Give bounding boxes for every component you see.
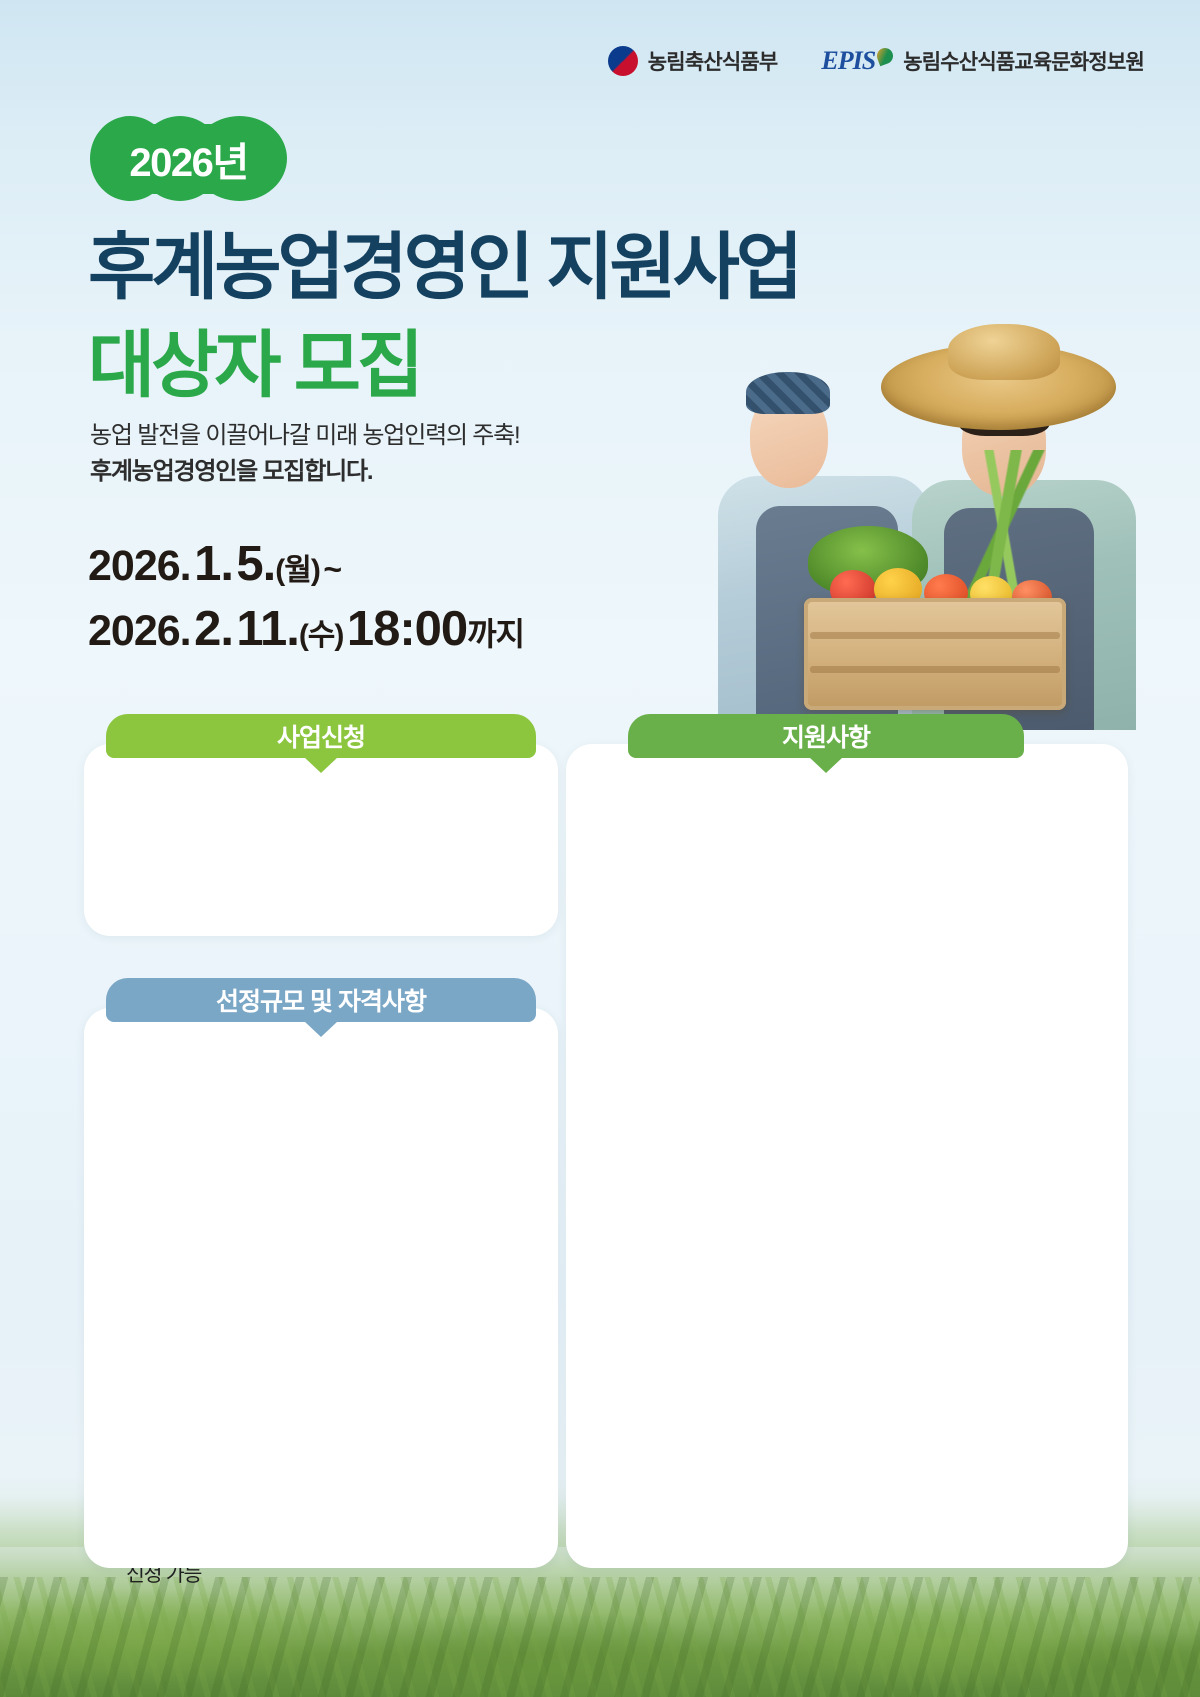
epis-logo-unit: EPIS 농림수산식품교육문화정보원	[821, 46, 1144, 76]
poster-subtitle: 농업 발전을 이끌어나갈 미래 농업인력의 주축! 후계농업경영인을 모집합니다…	[90, 418, 520, 490]
date-end-time: 18:00	[347, 602, 467, 656]
date-end-year: 2026.	[88, 607, 191, 655]
support-card	[566, 744, 1128, 1568]
epis-name: 농림수산식품교육문화정보원	[903, 46, 1144, 76]
header-logos: 농림축산식품부 EPIS 농림수산식품교육문화정보원	[608, 46, 1144, 76]
poster-title-line1: 후계농업경영인 지원사업	[88, 208, 799, 314]
woman-bandana	[746, 372, 830, 414]
date-end-weekday: (수)	[299, 619, 344, 652]
ministry-name: 농림축산식품부	[648, 46, 778, 76]
date-end-suffix: 까지	[467, 616, 524, 652]
date-start-weekday: (월)	[275, 554, 320, 587]
subtitle-line1: 농업 발전을 이끌어나갈 미래 농업인력의 주축!	[90, 418, 520, 454]
straw-hat-crown	[948, 324, 1060, 380]
farmers-photo	[712, 330, 1172, 730]
date-end-line: 2026. 2. 11.(수) 18:00까지	[88, 597, 524, 662]
application-period: 2026. 1. 5.(월) ~ 2026. 2. 11.(수) 18:00까지	[88, 532, 524, 661]
ministry-logo-unit: 농림축산식품부	[608, 46, 778, 76]
date-start-year: 2026.	[88, 542, 191, 590]
apply-banner: 사업신청	[106, 714, 536, 758]
poster-title-line2: 대상자 모집	[88, 306, 420, 412]
date-end-day: 11.	[236, 602, 298, 656]
qualification-banner-label: 선정규모 및 자격사항	[216, 982, 426, 1018]
epis-mark: EPIS	[821, 46, 893, 76]
date-start-month: 1.	[194, 537, 233, 591]
year-badge-label: 2026년	[90, 116, 287, 201]
wooden-crate	[804, 598, 1066, 710]
epis-wordmark: EPIS	[821, 46, 875, 76]
support-banner: 지원사항	[628, 714, 1024, 758]
qualification-card	[84, 1008, 558, 1568]
date-start-line: 2026. 1. 5.(월) ~	[88, 532, 524, 597]
qualification-banner: 선정규모 및 자격사항	[106, 978, 536, 1022]
support-banner-label: 지원사항	[782, 718, 870, 754]
epis-swoosh-icon	[875, 46, 896, 67]
date-range-tilde: ~	[323, 551, 341, 587]
taegeuk-icon	[608, 46, 638, 76]
date-end-month: 2.	[194, 602, 233, 656]
subtitle-line2: 후계농업경영인을 모집합니다.	[90, 454, 520, 490]
year-badge: 2026년	[90, 116, 287, 201]
date-start-day: 5.	[236, 537, 275, 591]
apply-banner-label: 사업신청	[277, 718, 365, 754]
poster-root: 농림축산식품부 EPIS 농림수산식품교육문화정보원 2026년 후계농업경영인…	[0, 0, 1200, 1697]
